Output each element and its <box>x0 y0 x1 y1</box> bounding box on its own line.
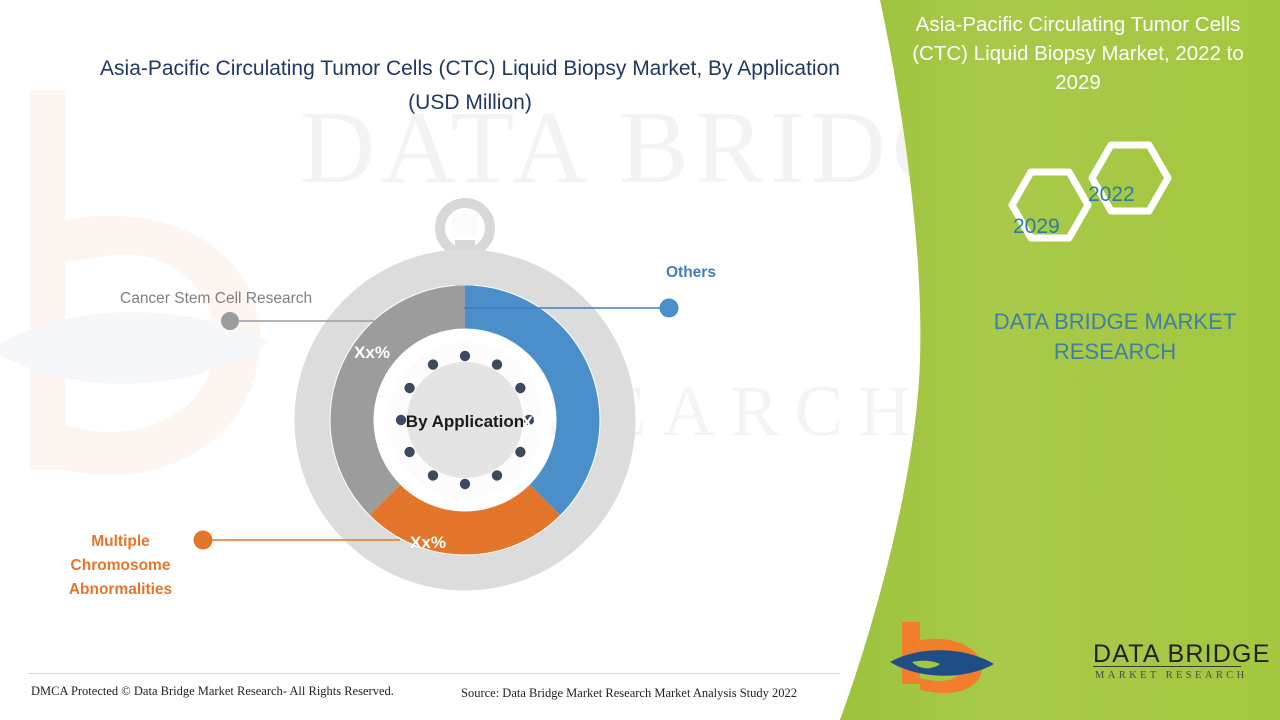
leader-dot-others <box>660 299 679 318</box>
callout-label-others: Others <box>666 264 716 282</box>
callout-mca-line-3: Abnormalities <box>58 578 183 602</box>
callout-mca-line-1: Multiple <box>58 530 183 554</box>
footer-divider <box>28 673 840 674</box>
leader-dot-multiple-chromosome <box>194 531 213 550</box>
infographic-root: DATA BRIDGE T RESEARCH Asia-Pacific Circ… <box>0 0 1280 720</box>
footer-source-text: Source: Data Bridge Market Research Mark… <box>461 686 797 701</box>
footer-dmca-text: DMCA Protected © Data Bridge Market Rese… <box>31 684 394 699</box>
callout-leaders <box>0 0 1280 720</box>
callout-label-multiple-chromosome-abnormalities: Multiple Chromosome Abnormalities <box>58 530 183 602</box>
leader-dot-cancer-stem <box>221 312 239 330</box>
callout-mca-line-2: Chromosome <box>58 554 183 578</box>
callout-label-cancer-stem-cell-research: Cancer Stem Cell Research <box>120 290 350 308</box>
